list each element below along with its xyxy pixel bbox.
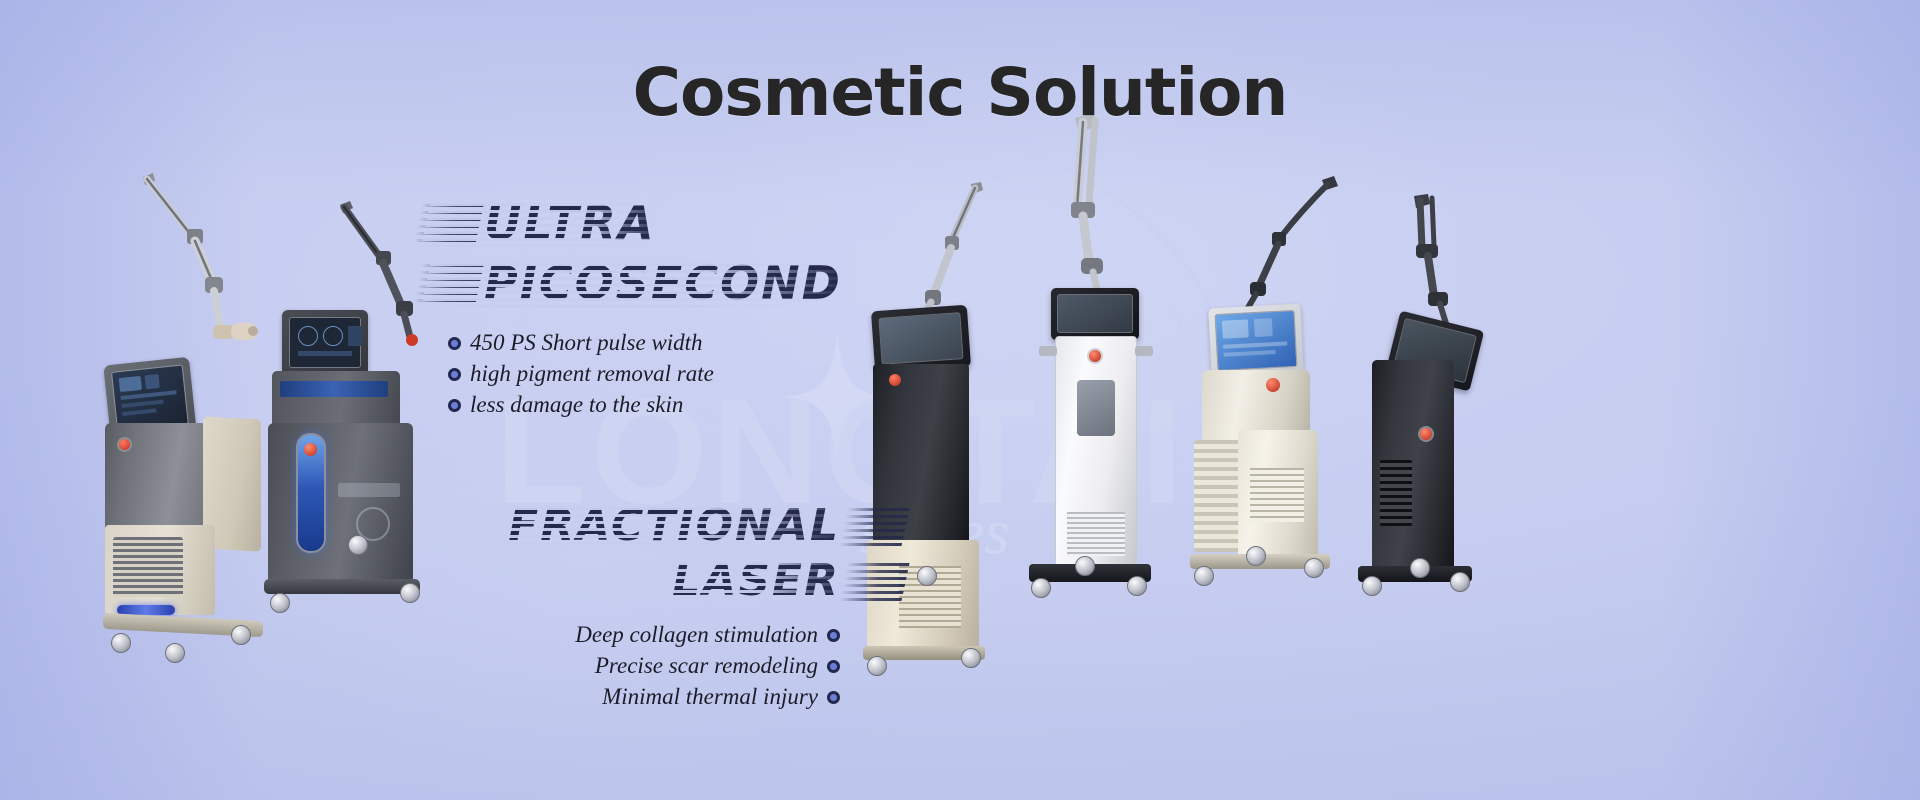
screen [111,364,189,431]
red-indicator [1266,378,1280,392]
product-fractional-co2-white-tall [1015,112,1155,582]
vent-grille [1380,460,1412,526]
speed-trail-icon [413,260,485,305]
control-strip [280,381,388,397]
side-handle-left[interactable] [1039,346,1057,356]
control-recess [1077,380,1115,436]
speed-trail-icon [839,559,910,602]
list-item: less damage to the skin [448,392,850,418]
caster-wheel [1031,578,1051,598]
machine-cabinet [268,423,413,583]
caster-wheel [348,535,368,555]
caster-wheel [1127,576,1147,596]
emergency-stop-button[interactable] [117,437,132,452]
caster-wheel [400,583,420,603]
list-item-label: Deep collagen stimulation [575,622,818,648]
list-item-label: high pigment removal rate [470,361,714,387]
section-fractional-laser: FRACTIONAL LASER Deep collagen stimulati… [470,500,840,715]
ring-bullet-icon [448,368,461,381]
articulated-arm [875,178,1005,328]
touchscreen-panel [871,305,971,374]
list-item: Minimal thermal injury [470,684,840,710]
vent-grille [1250,468,1304,522]
product-picosecond-laser-darkgrey [260,195,430,575]
screen [289,317,361,368]
articulated-arm [95,165,260,375]
list-item: high pigment removal rate [448,361,850,387]
ring-bullet-icon [448,337,461,350]
list-item-label: Minimal thermal injury [602,684,818,710]
fractional-feature-list: Deep collagen stimulation Precise scar r… [470,622,840,710]
list-item-label: Precise scar remodeling [595,653,818,679]
vent-grille [113,537,183,597]
brand-plate [338,483,400,497]
caster-wheel [111,633,131,653]
caster-wheel [231,625,251,645]
caster-wheel [1410,558,1430,578]
caster-wheel [1194,566,1214,586]
caster-wheel [1075,556,1095,576]
caster-wheel [917,566,937,586]
list-item: Deep collagen stimulation [470,622,840,648]
heading-fractional: FRACTIONAL [508,500,840,551]
page-title: Cosmetic Solution [0,54,1920,131]
caster-wheel [1362,576,1382,596]
red-indicator [889,374,901,386]
ring-bullet-icon [827,691,840,704]
list-item: 450 PS Short pulse width [448,330,850,356]
machine-body [272,371,400,427]
cosmetic-solution-banner: LONGTAI series Cosmetic Solution ULTRA P… [0,0,1920,800]
ring-bullet-icon [448,399,461,412]
articulated-arm [1033,112,1153,312]
section-ultra-picosecond: ULTRA PICOSECOND 450 PS Short pulse widt… [430,196,850,423]
machine-base [264,579,420,594]
product-fractional-co2-cream-arm [1180,168,1340,588]
speed-trail-icon [839,504,910,547]
side-handle-right[interactable] [1135,346,1153,356]
ring-bullet-icon [827,629,840,642]
caster-wheel [961,648,981,668]
product-picosecond-laser-beige [95,165,260,555]
touchscreen-panel [282,310,368,376]
red-indicator [304,443,317,456]
caster-wheel [867,656,887,676]
red-indicator [1087,348,1103,364]
caster-wheel [165,643,185,663]
heading-ultra: ULTRA [484,196,655,250]
caster-wheel [1450,572,1470,592]
heading-picosecond: PICOSECOND [484,256,842,310]
list-item-label: 450 PS Short pulse width [470,330,703,356]
list-item: Precise scar remodeling [470,653,840,679]
picosecond-feature-list: 450 PS Short pulse width high pigment re… [448,330,850,418]
list-item-label: less damage to the skin [470,392,683,418]
screen [1057,294,1133,333]
caster-wheel [1304,558,1324,578]
red-indicator [1418,426,1434,442]
caster-wheel [1246,546,1266,566]
heading-laser: LASER [672,555,840,606]
product-fractional-co2-black-slim [1350,190,1480,590]
speed-trail-icon [413,200,485,245]
screen [878,312,963,365]
screen [1215,310,1298,371]
touchscreen-panel [1208,304,1304,379]
ring-bullet-icon [827,660,840,673]
touchscreen-panel [1051,288,1139,340]
caster-wheel [270,593,290,613]
vent-grille [1067,512,1125,556]
